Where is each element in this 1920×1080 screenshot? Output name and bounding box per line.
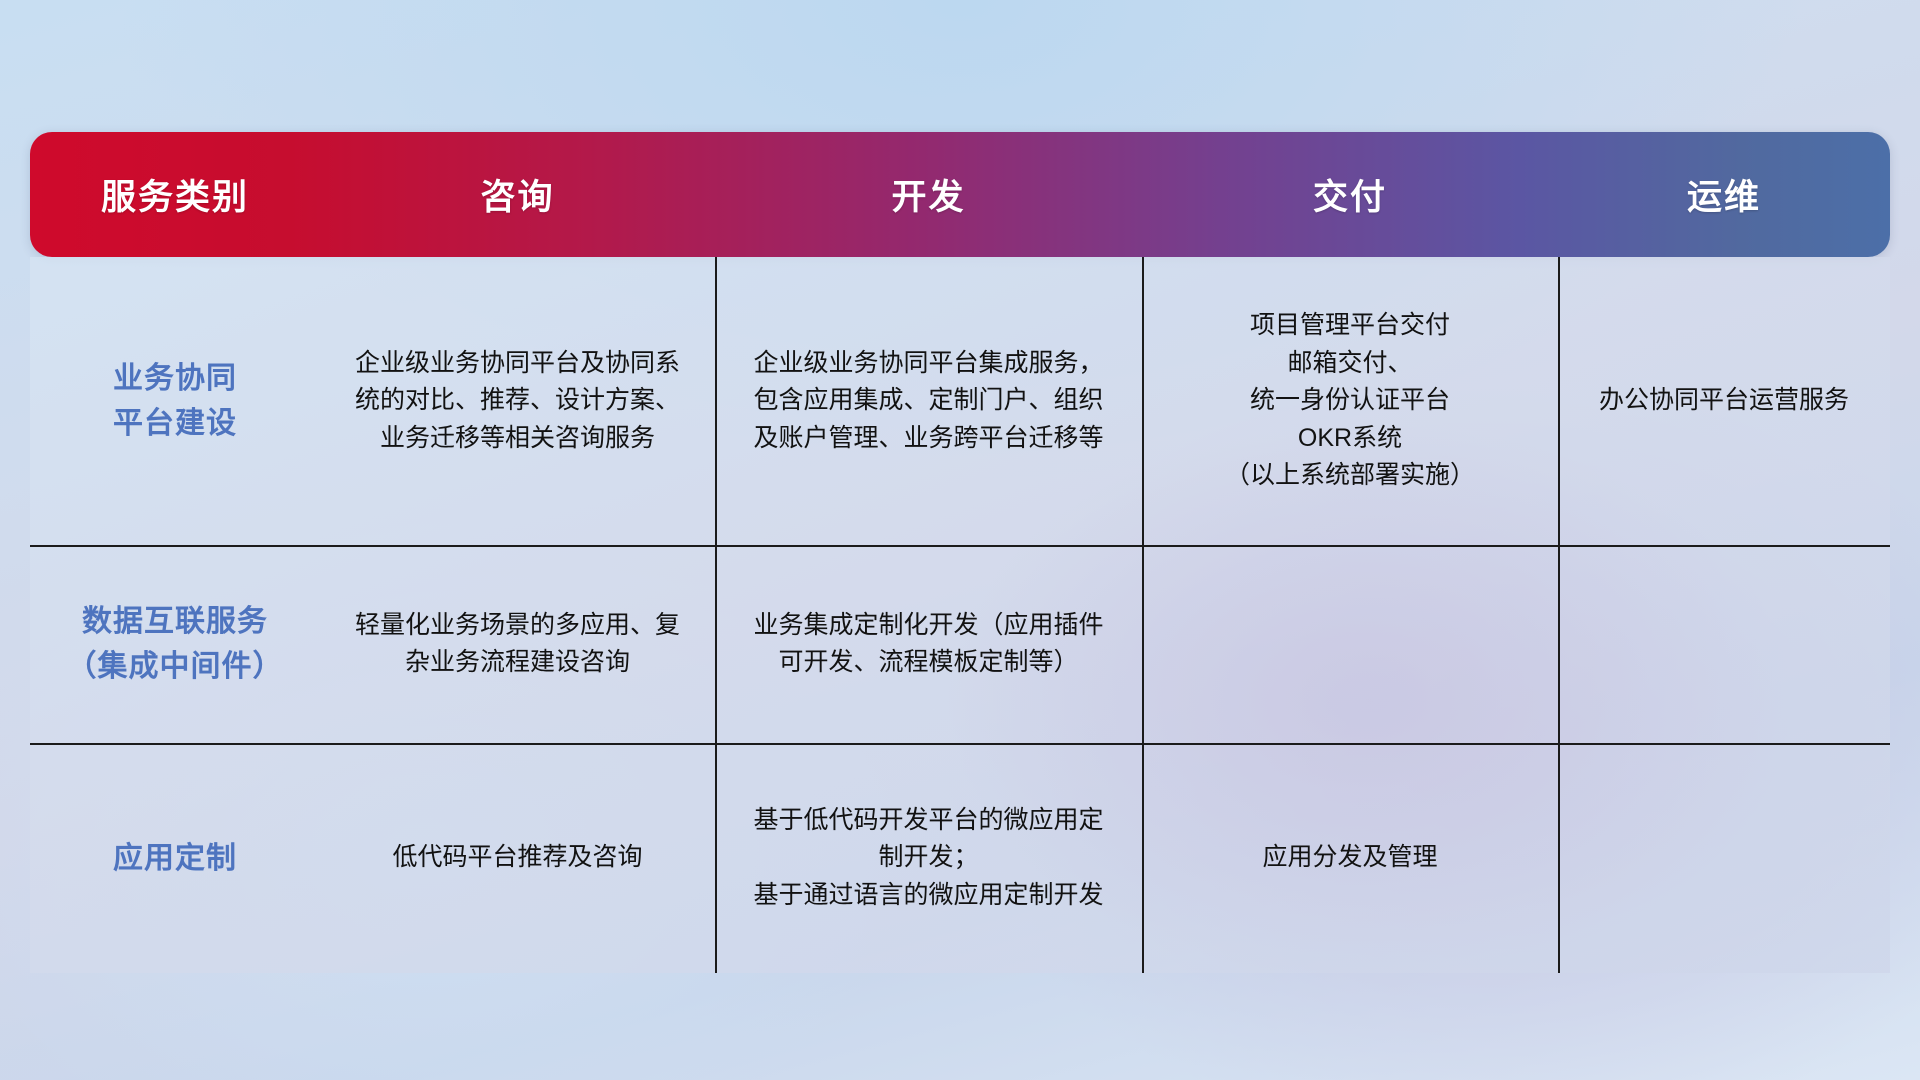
cell-consulting: 轻量化业务场景的多应用、复 杂业务流程建设咨询: [320, 545, 715, 743]
table-row: 应用定制 低代码平台推荐及咨询 基于低代码开发平台的微应用定 制开发； 基于通过…: [30, 743, 1890, 973]
column-header-delivery: 交付: [1142, 132, 1558, 257]
slide-canvas: 服务类别 咨询 开发 交付 运维 业务协同 平台建设 企业级业务协同平台及协同系…: [0, 0, 1920, 1080]
column-header-category: 服务类别: [30, 132, 320, 257]
column-header-consulting: 咨询: [320, 132, 715, 257]
row-category-label: 应用定制: [30, 743, 320, 973]
row-category-label: 数据互联服务 （集成中间件）: [30, 545, 320, 743]
cell-consulting: 企业级业务协同平台及协同系 统的对比、推荐、设计方案、 业务迁移等相关咨询服务: [320, 257, 715, 545]
row-category-label: 业务协同 平台建设: [30, 257, 320, 545]
cell-operations: 办公协同平台运营服务: [1558, 257, 1890, 545]
table-row: 业务协同 平台建设 企业级业务协同平台及协同系 统的对比、推荐、设计方案、 业务…: [30, 257, 1890, 545]
cell-development: 基于低代码开发平台的微应用定 制开发； 基于通过语言的微应用定制开发: [715, 743, 1142, 973]
table-row: 数据互联服务 （集成中间件） 轻量化业务场景的多应用、复 杂业务流程建设咨询 业…: [30, 545, 1890, 743]
cell-operations: [1558, 545, 1890, 743]
cell-delivery: 项目管理平台交付 邮箱交付、 统一身份认证平台 OKR系统 （以上系统部署实施）: [1142, 257, 1558, 545]
cell-delivery: [1142, 545, 1558, 743]
cell-delivery: 应用分发及管理: [1142, 743, 1558, 973]
cell-development: 业务集成定制化开发（应用插件 可开发、流程模板定制等）: [715, 545, 1142, 743]
cell-operations: [1558, 743, 1890, 973]
service-matrix-table: 服务类别 咨询 开发 交付 运维 业务协同 平台建设 企业级业务协同平台及协同系…: [30, 132, 1890, 973]
table-header-row: 服务类别 咨询 开发 交付 运维: [30, 132, 1890, 257]
cell-consulting: 低代码平台推荐及咨询: [320, 743, 715, 973]
cell-development: 企业级业务协同平台集成服务， 包含应用集成、定制门户、组织 及账户管理、业务跨平…: [715, 257, 1142, 545]
table-body: 业务协同 平台建设 企业级业务协同平台及协同系 统的对比、推荐、设计方案、 业务…: [30, 257, 1890, 973]
column-header-development: 开发: [715, 132, 1142, 257]
column-header-operations: 运维: [1558, 132, 1890, 257]
